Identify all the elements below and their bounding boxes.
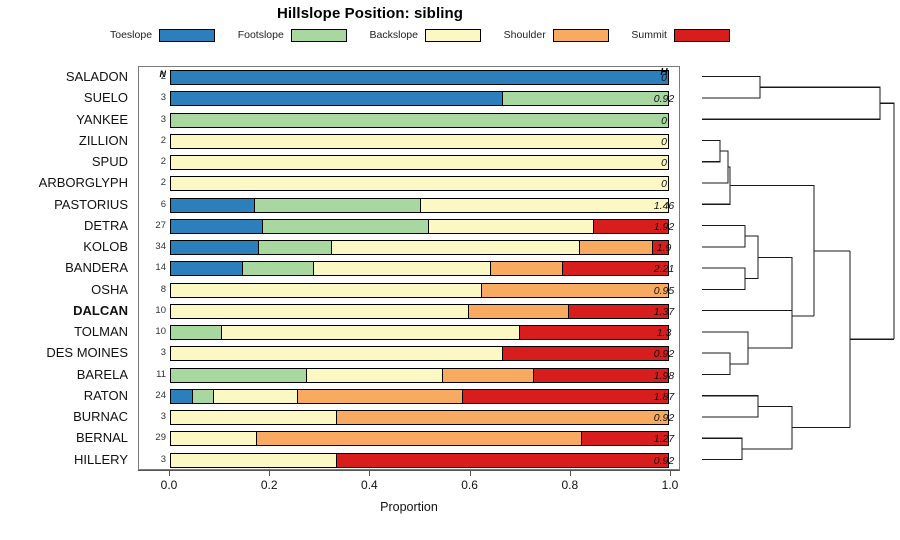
bar-segment <box>171 390 193 403</box>
bar-segment <box>171 347 503 360</box>
x-axis-tick <box>470 470 471 476</box>
bar-segment <box>463 390 668 403</box>
chart-row: 11 <box>139 365 679 386</box>
entropy-value: 1.98 <box>644 364 684 385</box>
dendrogram-svg <box>700 66 896 470</box>
entropy-value: 1.27 <box>644 427 684 448</box>
chart-panel: N233222627341481010311243293 <box>138 66 680 470</box>
bar-segment <box>171 369 307 382</box>
stacked-bar[interactable] <box>170 304 669 319</box>
stacked-bar[interactable] <box>170 198 669 213</box>
stacked-bar[interactable] <box>170 91 669 106</box>
x-axis-tick-label: 0.8 <box>561 478 578 492</box>
entropy-value: 0 <box>644 172 684 193</box>
n-value: 10 <box>139 305 166 316</box>
n-value: 2 <box>139 156 166 167</box>
chart-row: 2 <box>139 173 679 194</box>
stacked-bar[interactable] <box>170 368 669 383</box>
bar-segment <box>337 454 668 467</box>
bar-segment <box>298 390 463 403</box>
n-value: 3 <box>139 92 166 103</box>
n-value: 3 <box>139 114 166 125</box>
y-axis-label: SALADON <box>66 66 128 87</box>
bar-segment <box>255 199 421 212</box>
chart-row: 3 <box>139 343 679 364</box>
y-axis-label: SPUD <box>92 151 128 172</box>
bar-segment <box>171 135 668 148</box>
bar-segment <box>171 199 255 212</box>
bar-segment <box>469 305 569 318</box>
bar-segment <box>171 262 243 275</box>
y-axis-label: YANKEE <box>76 109 128 130</box>
chart-row: 6 <box>139 195 679 216</box>
bar-segment <box>314 262 491 275</box>
y-axis-label: BERNAL <box>76 427 128 448</box>
n-value: 10 <box>139 326 166 337</box>
n-value: 8 <box>139 284 166 295</box>
n-value: 29 <box>139 432 166 443</box>
bar-segment <box>171 114 668 127</box>
legend-label: Summit <box>631 29 667 41</box>
entropy-value: 0.92 <box>644 406 684 427</box>
legend-item: Summit <box>631 29 730 42</box>
n-value: 27 <box>139 220 166 231</box>
n-value: 11 <box>139 369 166 380</box>
chart-row: 3 <box>139 450 679 471</box>
y-axis-labels: SALADONSUELOYANKEEZILLIONSPUDARBORGLYPHP… <box>0 66 134 470</box>
bar-segment <box>214 390 297 403</box>
x-axis: 0.00.20.40.60.81.0 <box>138 470 680 484</box>
legend-item: Shoulder <box>504 29 609 42</box>
chart-row: 24 <box>139 386 679 407</box>
chart-row: 27 <box>139 216 679 237</box>
stacked-bar[interactable] <box>170 70 669 85</box>
bar-segment <box>171 177 668 190</box>
y-axis-label: HILLERY <box>74 449 128 470</box>
y-axis-label: DETRA <box>84 215 128 236</box>
legend-swatch <box>291 29 347 42</box>
n-value: 2 <box>139 177 166 188</box>
x-axis-tick <box>570 470 571 476</box>
x-axis-tick-label: 1.0 <box>662 478 679 492</box>
chart-row: 2 <box>139 152 679 173</box>
chart-row: 10 <box>139 322 679 343</box>
legend: ToeslopeFootslopeBackslopeShoulderSummit <box>110 26 730 44</box>
legend-label: Toeslope <box>110 29 152 41</box>
page-title: Hillslope Position: sibling <box>0 5 740 22</box>
legend-label: Backslope <box>370 29 418 41</box>
chart-row: 34 <box>139 237 679 258</box>
entropy-value: 1.3 <box>644 321 684 342</box>
y-axis-label: BANDERA <box>65 257 128 278</box>
bar-segment <box>171 220 263 233</box>
dendrogram <box>700 66 896 470</box>
stacked-bar[interactable] <box>170 453 669 468</box>
entropy-value: 0 <box>644 130 684 151</box>
x-axis-tick-label: 0.4 <box>361 478 378 492</box>
y-axis-label: BURNAC <box>73 406 128 427</box>
x-axis-tick-label: 0.2 <box>261 478 278 492</box>
n-value: 34 <box>139 241 166 252</box>
y-axis-label: ZILLION <box>79 130 128 151</box>
stacked-bar[interactable] <box>170 261 669 276</box>
bar-segment <box>421 199 669 212</box>
x-axis-tick <box>269 470 270 476</box>
y-axis-label: DES MOINES <box>46 342 128 363</box>
entropy-value: 1.46 <box>644 194 684 215</box>
x-axis-line <box>138 470 680 471</box>
bar-segment <box>259 241 332 254</box>
y-axis-label: TOLMAN <box>74 321 128 342</box>
entropy-column: H00.9200001.461.921.92.210.951.371.30.92… <box>644 66 688 470</box>
chart-row: 29 <box>139 428 679 449</box>
n-value: 3 <box>139 454 166 465</box>
legend-label: Footslope <box>238 29 284 41</box>
legend-item: Toeslope <box>110 29 215 42</box>
entropy-value: 0 <box>644 66 684 87</box>
bar-segment <box>171 326 222 339</box>
legend-swatch <box>553 29 609 42</box>
stacked-bar[interactable] <box>170 134 669 149</box>
chart-row: 3 <box>139 110 679 131</box>
legend-swatch <box>159 29 215 42</box>
chart-row: 2 <box>139 67 679 88</box>
bar-segment <box>171 71 668 84</box>
chart-row: 10 <box>139 301 679 322</box>
bar-segment <box>171 156 668 169</box>
bar-segment <box>193 390 215 403</box>
bar-segment <box>171 454 337 467</box>
stacked-bar[interactable] <box>170 431 669 446</box>
entropy-value: 1.87 <box>644 385 684 406</box>
n-value: 2 <box>139 135 166 146</box>
x-axis-tick-label: 0.0 <box>161 478 178 492</box>
stacked-bar[interactable] <box>170 346 669 361</box>
bar-segment <box>307 369 443 382</box>
bar-segment <box>332 241 580 254</box>
entropy-value: 0.95 <box>644 279 684 300</box>
y-axis-label: BARELA <box>77 364 128 385</box>
n-value: 3 <box>139 347 166 358</box>
entropy-value: 2.21 <box>644 257 684 278</box>
bar-segment <box>263 220 429 233</box>
bar-segment <box>443 369 534 382</box>
chart-row: 2 <box>139 131 679 152</box>
n-value: 14 <box>139 262 166 273</box>
stacked-bar[interactable] <box>170 410 669 425</box>
stacked-bar[interactable] <box>170 240 669 255</box>
stacked-bar[interactable] <box>170 325 669 340</box>
bar-segment <box>243 262 315 275</box>
chart-row: 3 <box>139 88 679 109</box>
bar-segment <box>171 432 257 445</box>
bar-segment <box>171 305 469 318</box>
bar-segment <box>257 432 582 445</box>
entropy-value: 1.37 <box>644 300 684 321</box>
y-axis-label: DALCAN <box>73 300 128 321</box>
y-axis-label: RATON <box>84 385 128 406</box>
stacked-bar[interactable] <box>170 155 669 170</box>
x-axis-title: Proportion <box>138 500 680 514</box>
bar-segment <box>482 284 668 297</box>
n-value: 24 <box>139 390 166 401</box>
bar-segment <box>580 241 653 254</box>
legend-label: Shoulder <box>504 29 546 41</box>
n-value: 2 <box>139 71 166 82</box>
chart-row: 8 <box>139 280 679 301</box>
stacked-bar[interactable] <box>170 219 669 234</box>
bar-segment <box>337 411 668 424</box>
x-axis-tick <box>670 470 671 476</box>
n-value: 6 <box>139 199 166 210</box>
stacked-bar[interactable] <box>170 113 669 128</box>
legend-swatch <box>674 29 730 42</box>
y-axis-label: OSHA <box>91 279 128 300</box>
x-axis-tick <box>169 470 170 476</box>
x-axis-tick-label: 0.6 <box>461 478 478 492</box>
y-axis-label: PASTORIUS <box>54 194 128 215</box>
bar-segment <box>171 411 337 424</box>
stacked-bars: N233222627341481010311243293 <box>139 67 679 469</box>
x-axis-tick <box>369 470 370 476</box>
entropy-value: 0 <box>644 109 684 130</box>
legend-item: Backslope <box>370 29 481 42</box>
bar-segment <box>429 220 595 233</box>
entropy-value: 0.92 <box>644 87 684 108</box>
legend-swatch <box>425 29 481 42</box>
stacked-bar[interactable] <box>170 283 669 298</box>
chart-row: 14 <box>139 258 679 279</box>
chart-row: 3 <box>139 407 679 428</box>
entropy-value: 0.92 <box>644 449 684 470</box>
bar-segment <box>171 241 259 254</box>
bar-segment <box>171 284 482 297</box>
entropy-value: 1.9 <box>644 236 684 257</box>
stacked-bar[interactable] <box>170 176 669 191</box>
y-axis-label: ARBORGLYPH <box>39 172 128 193</box>
legend-item: Footslope <box>238 29 347 42</box>
y-axis-label: KOLOB <box>83 236 128 257</box>
entropy-value: 1.92 <box>644 215 684 236</box>
n-value: 3 <box>139 411 166 422</box>
bar-segment <box>222 326 520 339</box>
entropy-value: 0 <box>644 151 684 172</box>
y-axis-label: SUELO <box>84 87 128 108</box>
bar-segment <box>491 262 563 275</box>
stacked-bar[interactable] <box>170 389 669 404</box>
entropy-value: 0.92 <box>644 342 684 363</box>
bar-segment <box>171 92 503 105</box>
